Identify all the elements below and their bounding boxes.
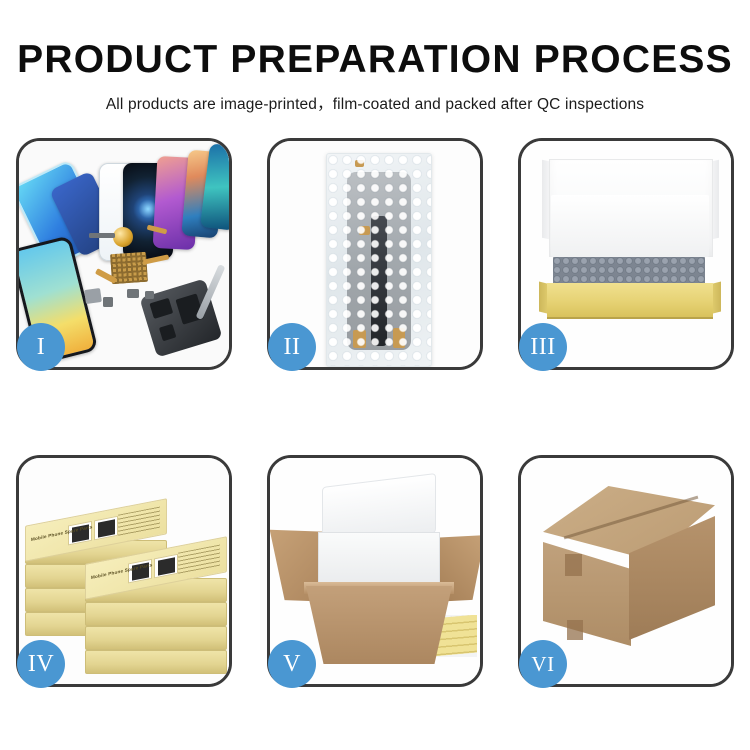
process-step-card-4[interactable]: Mobile Phone Spare Parts Mobile Phone Sp… (16, 455, 232, 687)
process-step-card-1[interactable]: I (16, 138, 232, 370)
connector-chip-icon (89, 233, 115, 238)
small-chip-icon (145, 291, 154, 299)
page-header: PRODUCT PREPARATION PROCESS All products… (0, 0, 750, 114)
stacked-box-side (85, 602, 227, 626)
bubble-padding-icon (553, 257, 705, 285)
step-badge-1: I (17, 323, 65, 371)
step-badge-5: V (268, 640, 316, 688)
stacked-box-side (85, 626, 227, 650)
gold-tab-icon (353, 330, 366, 348)
box-stack-icon: Mobile Phone Spare Parts Mobile Phone Sp… (25, 476, 229, 672)
small-chip-icon (127, 289, 139, 298)
gold-tab-icon (393, 328, 405, 348)
process-step-card-2[interactable]: II (267, 138, 483, 370)
foam-sheet-icon (551, 195, 709, 257)
speaker-module-icon (113, 227, 133, 247)
page-title: PRODUCT PREPARATION PROCESS (0, 40, 750, 81)
carton-body-icon (306, 586, 452, 664)
bubble-wrap-bag-icon (326, 153, 432, 367)
step-badge-4: IV (17, 640, 65, 688)
battery-connector-icon (84, 288, 102, 304)
process-step-grid: I II (16, 138, 734, 687)
gold-tab-icon (359, 226, 370, 235)
carton-tape-icon (567, 620, 583, 640)
process-step-card-5[interactable]: V (267, 455, 483, 687)
page-subtitle: All products are image-printed，film-coat… (0, 92, 750, 114)
carton-tape-icon (565, 554, 582, 576)
step-badge-2: II (268, 323, 316, 371)
part-body-icon (371, 216, 387, 346)
carton-front-face-icon (543, 542, 631, 646)
process-step-card-6[interactable]: VI (518, 455, 734, 687)
yellow-box-base-icon (547, 283, 713, 319)
step-badge-6: VI (519, 640, 567, 688)
process-step-card-3[interactable]: III (518, 138, 734, 370)
gold-tab-icon (355, 160, 364, 167)
stacked-box-side (85, 650, 227, 674)
step-badge-3: III (519, 323, 567, 371)
small-chip-icon (103, 297, 113, 307)
